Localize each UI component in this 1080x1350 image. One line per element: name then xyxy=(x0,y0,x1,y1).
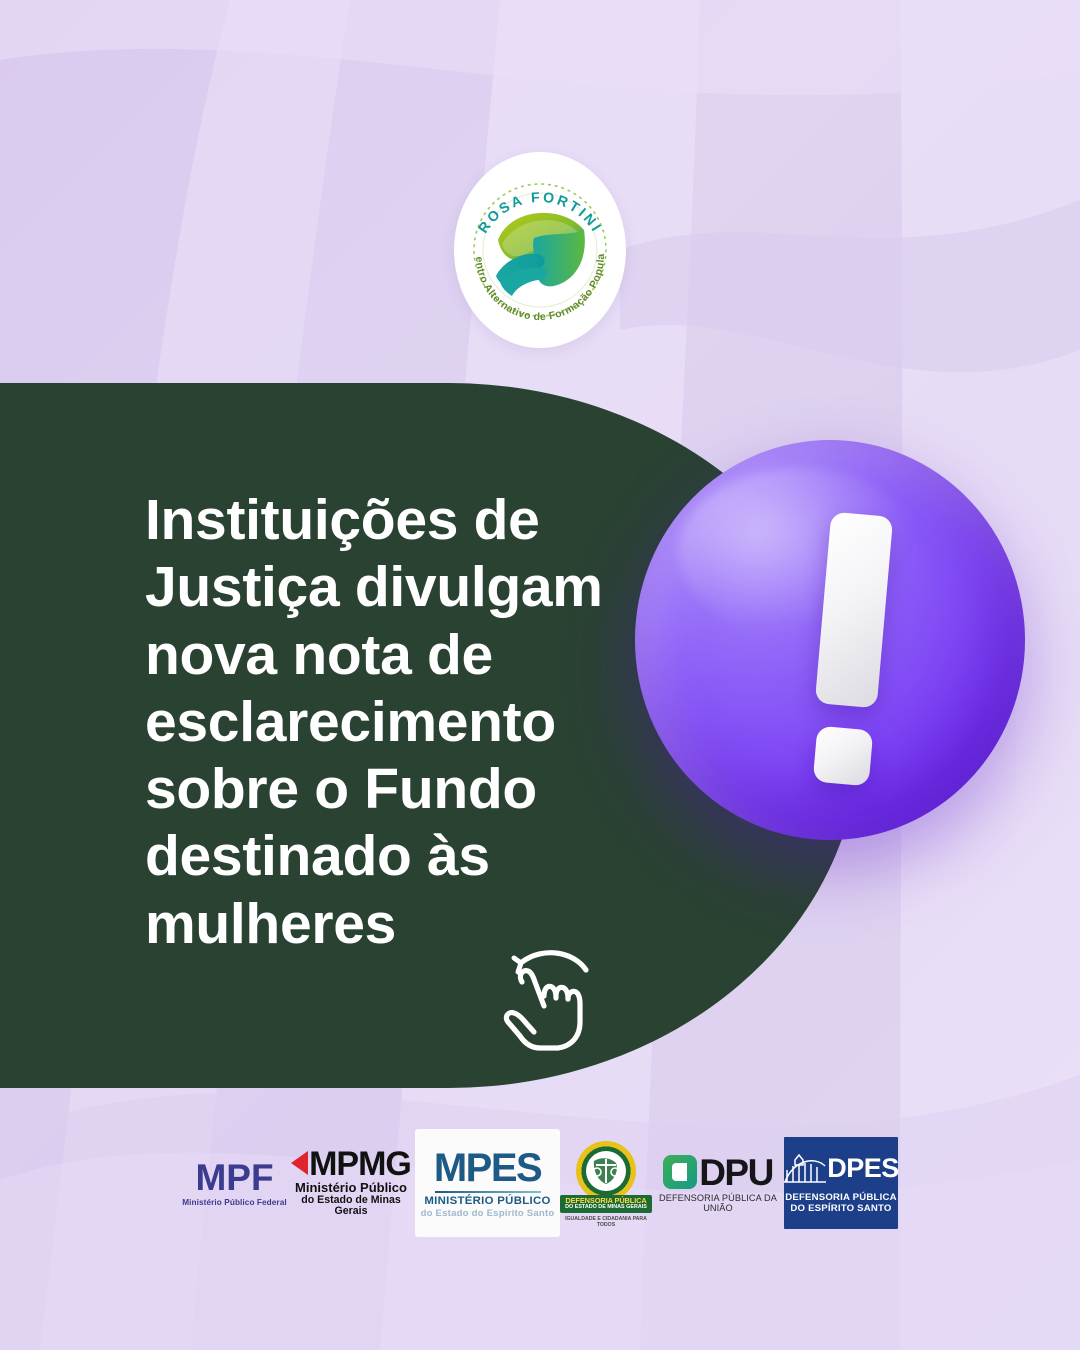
partner-logos-row: MPF Ministério Público Federal MPMG Mini… xyxy=(0,1128,1080,1238)
exclamation-mark-3d-sphere-icon xyxy=(635,440,1025,840)
dpu-square-icon xyxy=(663,1155,697,1189)
logo-mpf-subtitle: Ministério Público Federal xyxy=(182,1198,287,1207)
logo-dpes: DPES DEFENSORIA PÚBLICA DO ESPÍRITO SANT… xyxy=(784,1137,898,1229)
logo-mpmg-line2: do Estado de Minas Gerais xyxy=(287,1195,415,1218)
mpes-rule xyxy=(435,1191,541,1193)
page-title: Instituições de Justiça divulgam nova no… xyxy=(145,487,665,958)
logo-mpes-acronym: MPES xyxy=(434,1148,541,1188)
logo-mpes: MPES MINISTÉRIO PÚBLICO do Estado do Esp… xyxy=(415,1129,560,1237)
dpmg-banner: DEFENSORIA PÚBLICA DO ESTADO DE MINAS GE… xyxy=(560,1195,652,1213)
dpmg-banner-line1: DEFENSORIA PÚBLICA xyxy=(565,1197,646,1204)
mpmg-triangle-icon xyxy=(291,1151,308,1175)
logo-mpes-line1: MINISTÉRIO PÚBLICO xyxy=(424,1195,550,1207)
dpmg-banner-line2: DO ESTADO DE MINAS GERAIS xyxy=(565,1204,647,1210)
dpmg-seal-inner xyxy=(586,1151,626,1191)
swipe-left-hand-icon xyxy=(500,944,610,1064)
logo-defensoria-publica-minas-gerais: DEFENSORIA PÚBLICA DO ESTADO DE MINAS GE… xyxy=(560,1139,652,1227)
logo-mpmg-line1: Ministério Público xyxy=(295,1181,407,1195)
logo-mpes-line2: do Estado do Espírito Santo xyxy=(421,1208,555,1219)
brand-seal: ROSA FORTINI Centro Alternativo de Forma… xyxy=(454,152,626,348)
logo-dpes-line2: DO ESPÍRITO SANTO xyxy=(790,1203,891,1215)
dpes-bridge-icon xyxy=(783,1152,827,1186)
logo-dpes-acronym: DPES xyxy=(827,1155,899,1182)
logo-dpu-subtitle: DEFENSORIA PÚBLICA DA UNIÃO xyxy=(652,1193,784,1213)
logo-mpf: MPF Ministério Público Federal xyxy=(182,1153,287,1213)
dpmg-motto: IGUALDADE E CIDADANIA PARA TODOS xyxy=(560,1216,652,1228)
post-canvas: ROSA FORTINI Centro Alternativo de Forma… xyxy=(0,0,1080,1350)
logo-mpmg: MPMG Ministério Público do Estado de Min… xyxy=(287,1150,415,1216)
exclamation-dot xyxy=(813,726,874,787)
logo-dpu: DPU DEFENSORIA PÚBLICA DA UNIÃO xyxy=(652,1152,784,1214)
logo-mpf-acronym: MPF xyxy=(195,1159,273,1196)
logo-dpes-line1: DEFENSORIA PÚBLICA xyxy=(785,1192,896,1203)
logo-dpu-acronym: DPU xyxy=(699,1154,773,1191)
logo-mpmg-acronym: MPMG xyxy=(309,1148,411,1181)
